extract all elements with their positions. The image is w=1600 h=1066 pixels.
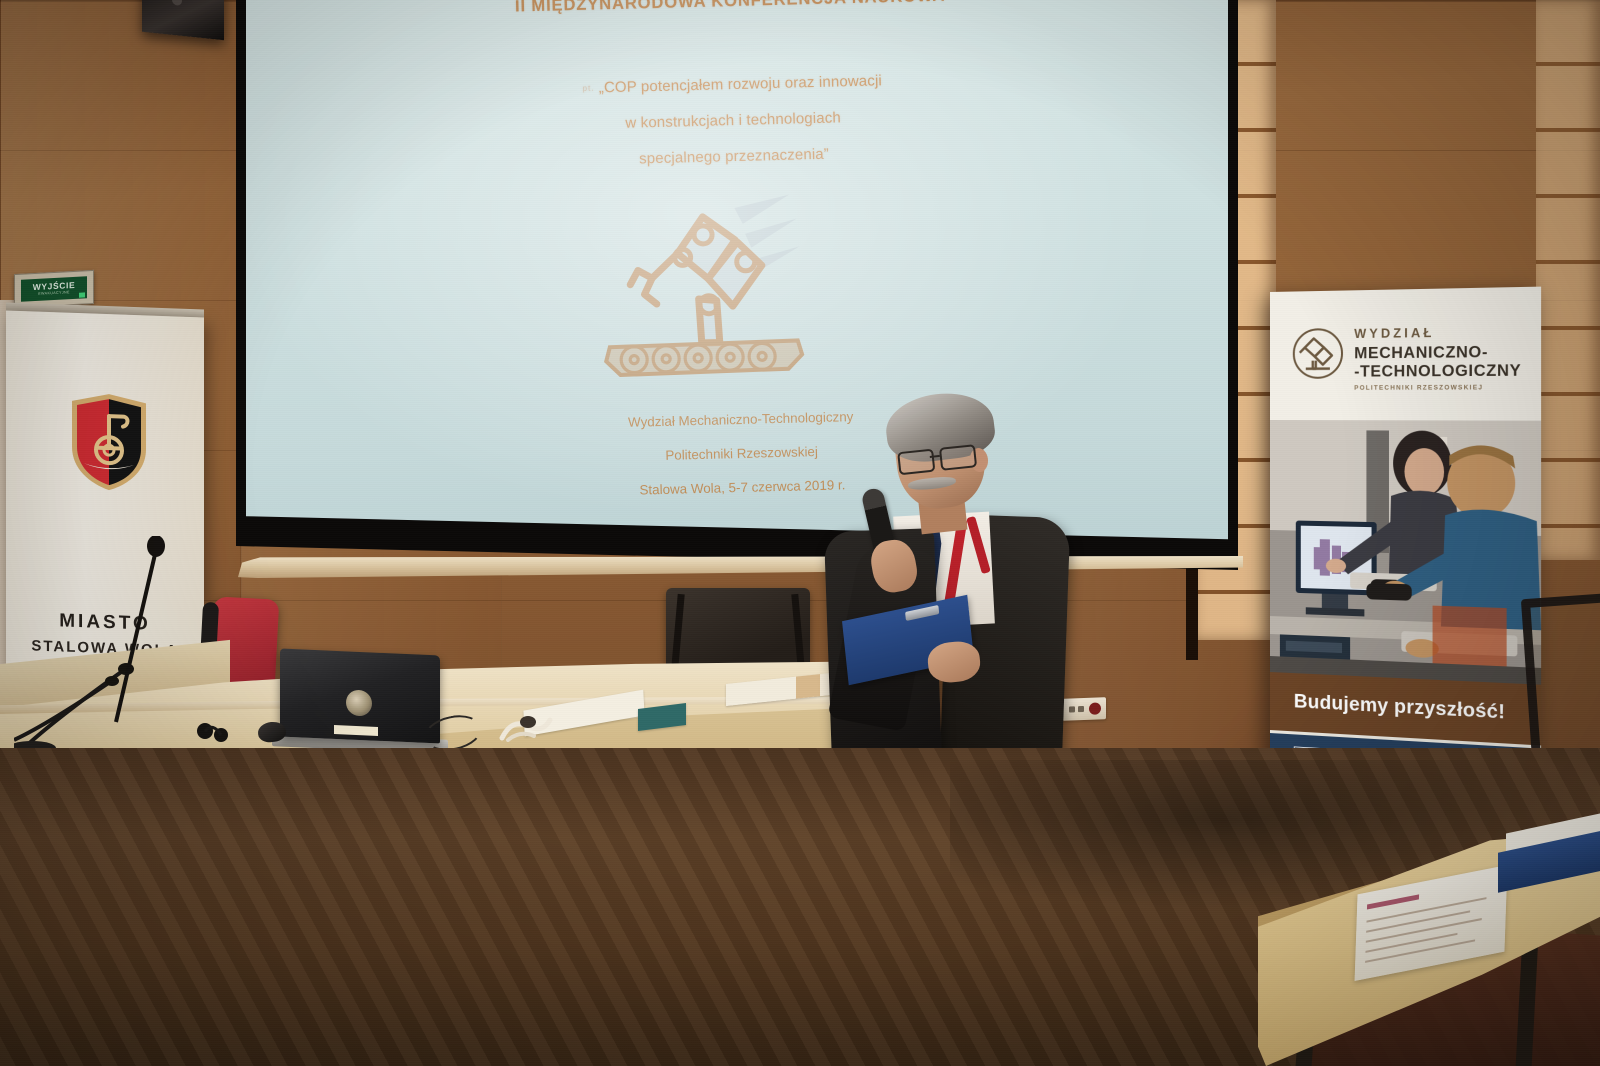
projection-screen: II MIĘDZYNARODOWA KONFERENCJA NAUKOWA pt… [236, 0, 1238, 588]
slide-footer-line-1: Wydział Mechaniczno-Technologiczny [250, 400, 1232, 440]
slide-subtitle-line-3: specjalnego przeznaczenia” [243, 136, 1225, 178]
banner-header: WYDZIAŁ MECHANICZNO- -TECHNOLOGICZNY POL… [1270, 287, 1541, 421]
wall-tile-column-far [1536, 0, 1600, 560]
red-button-icon[interactable] [1089, 702, 1101, 714]
slide-footer-line-3: Stalowa Wola, 5-7 czerwca 2019 r. [251, 468, 1233, 508]
floor-microphone-stand [98, 536, 166, 726]
clipboard-clip-icon [905, 605, 939, 621]
presentation-slide: II MIĘDZYNARODOWA KONFERENCJA NAUKOWA pt… [239, 0, 1235, 572]
banner-heading-line-2: -TECHNOLOGICZNY [1354, 362, 1521, 380]
earphones [196, 718, 230, 744]
banner-heading-sub: POLITECHNIKI RZESZOWSKIEJ [1354, 384, 1483, 392]
banner-photo-students-cad [1270, 420, 1541, 685]
banner-heading-small: WYDZIAŁ [1354, 326, 1434, 341]
exit-sign-sublabel: EWAKUACYJNE [38, 290, 70, 297]
slide-subtitle-line-2: w konstrukcjach i technologiach [242, 100, 1224, 142]
banner-slogan: Budujemy przyszłość! [1294, 691, 1505, 724]
banner-heading-line-1: MECHANICZNO- [1354, 344, 1488, 363]
slide-pt-prefix: pt. [582, 84, 594, 93]
slide-subtitle-line-1: pt. „COP potencjałem rozwoju oraz innowa… [241, 64, 1223, 106]
slide-subtitle-text-1: „COP potencjałem rozwoju oraz innowacji [599, 72, 883, 96]
laptop-asset-sticker [334, 725, 378, 736]
white-cable-bundle [498, 712, 554, 742]
conference-hall-photo: WYJŚCIE EWAKUACYJNE II MIĘDZYNARODOWA KO… [0, 0, 1600, 1066]
wmt-robot-logo-icon [1292, 327, 1344, 380]
slide-footer-line-2: Politechniki Rzeszowskiej [251, 434, 1233, 474]
dell-laptop [272, 652, 444, 752]
tracked-robot-arm-icon [584, 188, 819, 384]
stalowa-wola-coat-of-arms-icon [68, 391, 150, 494]
dell-logo-icon [346, 689, 372, 716]
